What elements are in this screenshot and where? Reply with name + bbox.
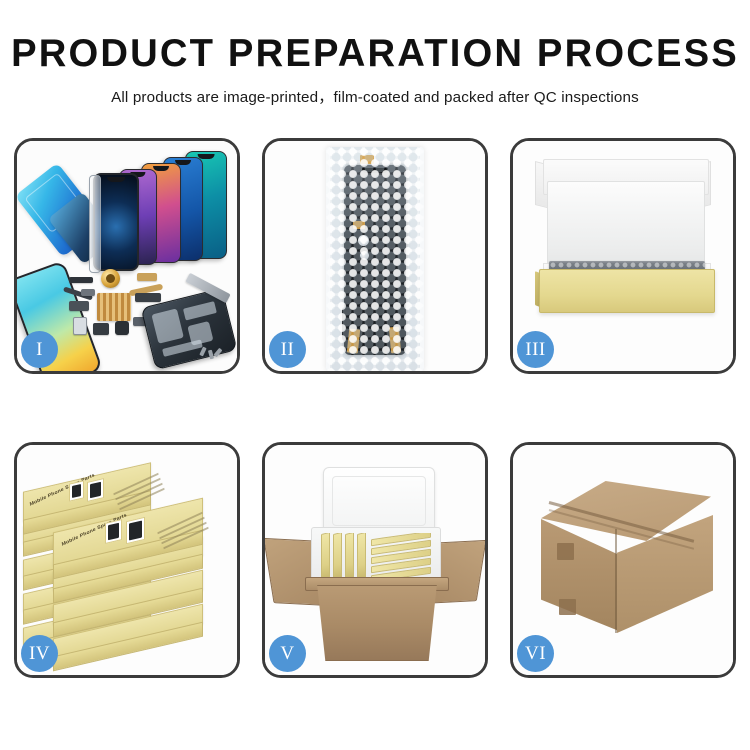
process-step-4[interactable]: Mobile Phone Spare Parts Mobile Phone Sp… [14,442,240,678]
carton-tape-patch [559,599,576,615]
yellow-boxes-inside [319,533,433,579]
carton-front-edge [615,529,617,633]
speaker-part-icon [101,269,120,288]
process-step-2[interactable]: II [262,138,488,374]
chip-array-icon [97,293,131,321]
stacked-box [53,587,203,607]
step-numeral-badge: VI [517,635,554,672]
phone-screen-glass [93,173,139,271]
stacked-box-printed-front: Mobile Phone Spare Parts [53,515,203,549]
process-step-5[interactable]: V [262,442,488,678]
process-step-6[interactable]: VI [510,442,736,678]
box-stack: Mobile Phone Spare Parts Mobile Phone Sp… [19,457,237,669]
part-bracket [69,301,89,311]
process-step-1[interactable]: I [14,138,240,374]
infographic-sheet: PRODUCT PREPARATION PROCESS All products… [0,0,750,750]
header: PRODUCT PREPARATION PROCESS All products… [0,34,750,107]
part-strip [69,277,93,283]
foam-lid [323,467,435,535]
step-numeral-badge: II [269,331,306,368]
step-numeral-badge: I [21,331,58,368]
box-art-phone [87,478,104,502]
box-art-phone [126,517,145,544]
stacked-box-printed-back: Mobile Phone Spare Parts [23,477,151,507]
part-sim-tray [73,317,87,335]
carton-body [309,585,445,661]
bubble-wrap-bag [326,147,424,371]
process-step-3[interactable]: III [510,138,736,374]
box-art-phone [69,480,84,501]
page-title: PRODUCT PREPARATION PROCESS [8,34,743,73]
part-camera [93,323,109,335]
box-art-phone [105,519,122,544]
stacked-box [53,621,203,641]
part-module [135,293,161,302]
part-sensor [115,321,129,335]
carton-tape-patch [557,543,574,560]
step-numeral-badge: IV [21,635,58,672]
screws-icon [201,347,223,361]
part-connector-gold [137,273,157,281]
step-numeral-badge: III [517,331,554,368]
yellow-box-tray [539,269,715,313]
step-numeral-badge: V [269,635,306,672]
part-shield [81,289,95,296]
process-grid: I II [14,138,736,678]
page-subtitle: All products are image-printed，film-coat… [0,85,750,107]
bag-seam [326,147,424,371]
phone-fan-group [89,149,237,273]
